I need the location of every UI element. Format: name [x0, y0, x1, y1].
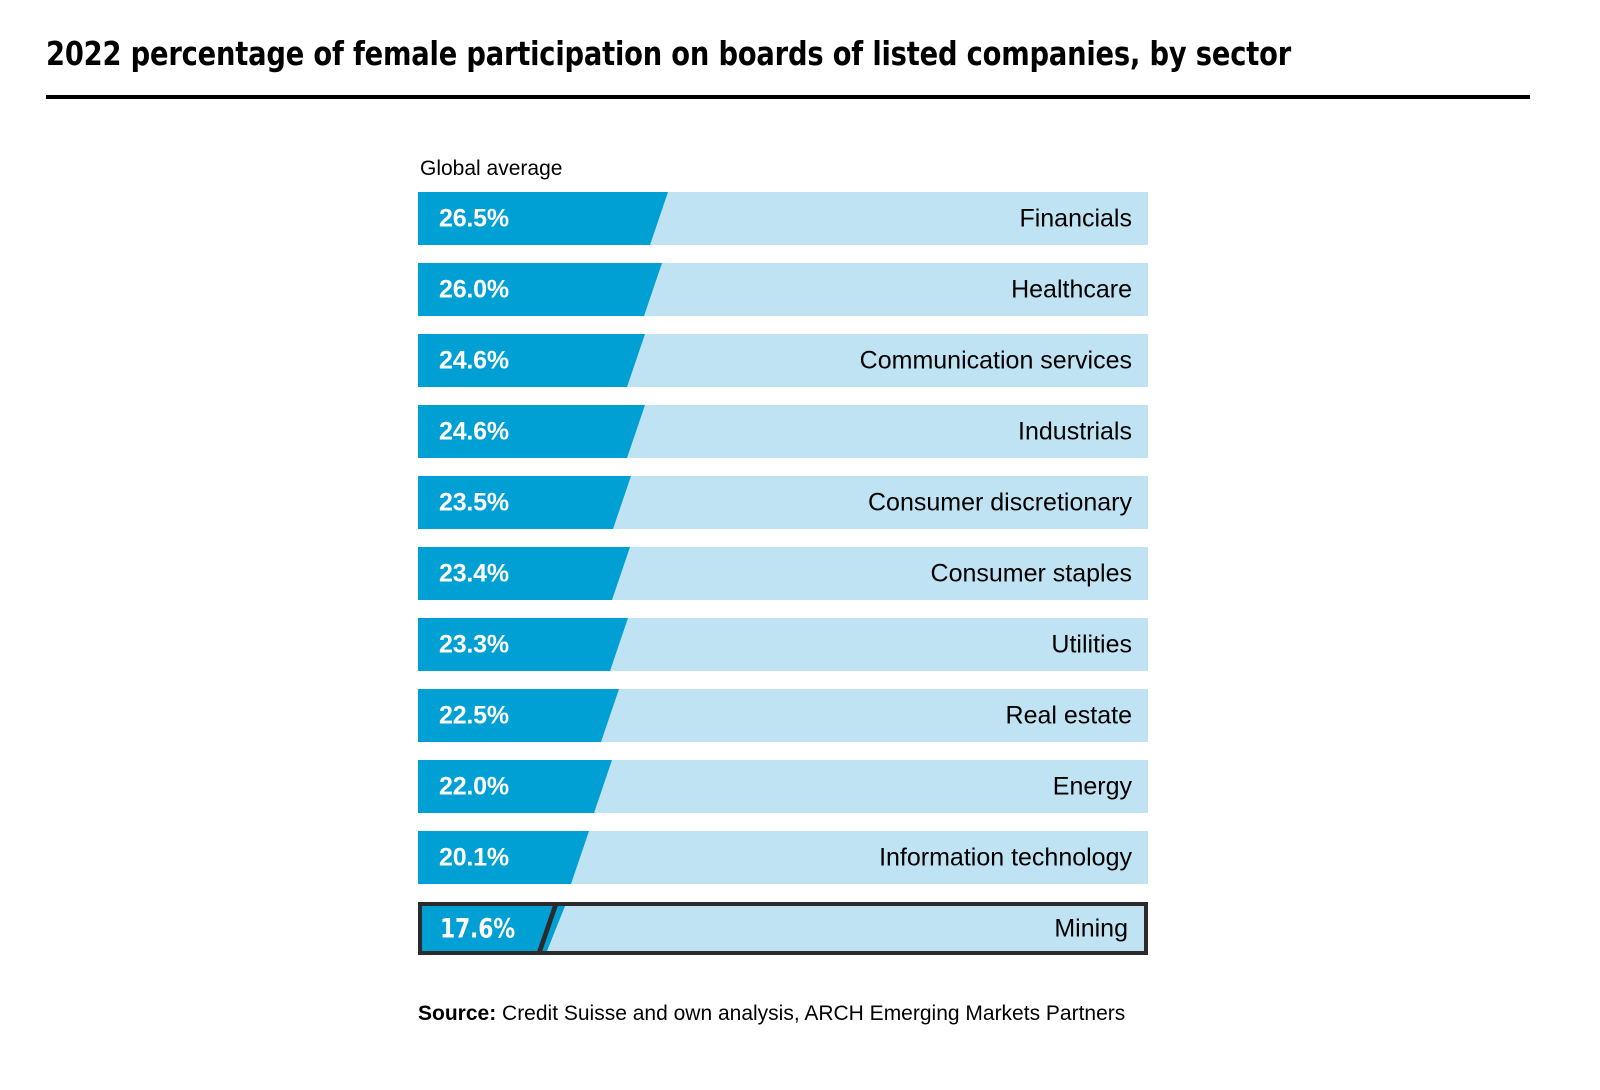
- source-note: Source: Credit Suisse and own analysis, …: [418, 1000, 1125, 1028]
- bar-value-label: 20.1%: [439, 843, 509, 872]
- bar-row: 24.6%Communication services: [418, 334, 1148, 387]
- source-label: Source:: [418, 1002, 496, 1025]
- bar-category-label: Information technology: [879, 843, 1132, 872]
- bar-value-label: 24.6%: [439, 346, 509, 375]
- bar-category-label: Financials: [1019, 204, 1132, 233]
- bar-category-label: Mining: [1054, 914, 1128, 943]
- chart-figure: 2022 percentage of female participation …: [0, 0, 1600, 1090]
- bar-category-label: Real estate: [1006, 701, 1132, 730]
- bar-category-label: Consumer staples: [931, 559, 1132, 588]
- bar-value-label: 23.5%: [439, 488, 509, 517]
- bar-category-label: Utilities: [1051, 630, 1132, 659]
- bar-value-label: 17.6%: [440, 913, 515, 944]
- bar-value-label: 26.5%: [439, 204, 509, 233]
- bar-row: 24.6%Industrials: [418, 405, 1148, 458]
- bar-row: 26.0%Healthcare: [418, 263, 1148, 316]
- bar-row: 23.3%Utilities: [418, 618, 1148, 671]
- bar-category-label: Communication services: [860, 346, 1132, 375]
- bar-row: 17.6%Mining: [418, 902, 1148, 955]
- title-divider: [46, 95, 1530, 99]
- bar-row: 20.1%Information technology: [418, 831, 1148, 884]
- bar-list: 26.5%Financials26.0%Healthcare24.6%Commu…: [418, 192, 1148, 955]
- bar-value-label: 22.0%: [439, 772, 509, 801]
- bar-value-label: 22.5%: [439, 701, 509, 730]
- bar-row: 22.0%Energy: [418, 760, 1148, 813]
- bar-row: 26.5%Financials: [418, 192, 1148, 245]
- bar-row: 22.5%Real estate: [418, 689, 1148, 742]
- bar-category-label: Industrials: [1018, 417, 1132, 446]
- source-text: Credit Suisse and own analysis, ARCH Eme…: [496, 1002, 1125, 1025]
- bar-value-label: 26.0%: [439, 275, 509, 304]
- page-title: 2022 percentage of female participation …: [46, 34, 1426, 74]
- bar-value-label: 24.6%: [439, 417, 509, 446]
- bar-category-label: Healthcare: [1011, 275, 1132, 304]
- bar-value-label: 23.3%: [439, 630, 509, 659]
- bar-category-label: Consumer discretionary: [868, 488, 1132, 517]
- bar-value-label: 23.4%: [439, 559, 509, 588]
- bar-row: 23.4%Consumer staples: [418, 547, 1148, 600]
- bar-row: 23.5%Consumer discretionary: [418, 476, 1148, 529]
- bar-category-label: Energy: [1053, 772, 1132, 801]
- global-average-annotation: Global average: [420, 156, 562, 182]
